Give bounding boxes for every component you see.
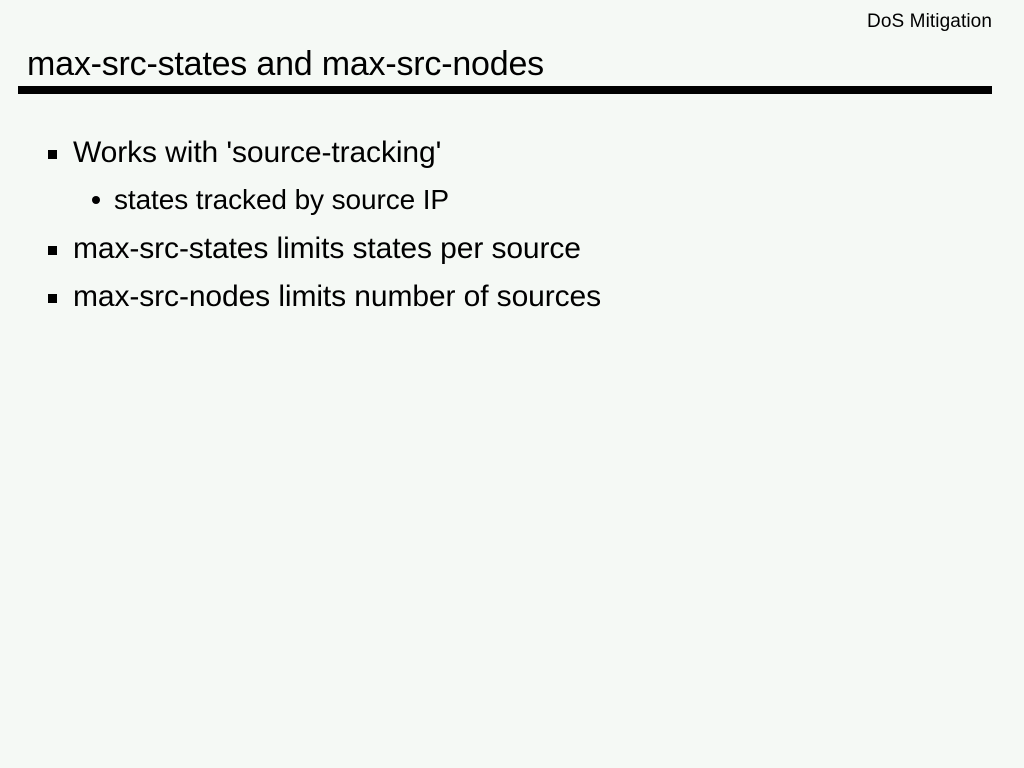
round-bullet-icon xyxy=(92,196,100,204)
bullet-item-label: Works with 'source-tracking' xyxy=(73,133,441,173)
bullet-item-label: max-src-nodes limits number of sources xyxy=(73,277,601,317)
bullet-item: states tracked by source IP xyxy=(0,181,1024,229)
slide-header-label: DoS Mitigation xyxy=(392,10,992,34)
square-bullet-icon xyxy=(48,294,57,303)
square-bullet-icon xyxy=(48,150,57,159)
title-divider-rule xyxy=(18,86,992,94)
bullet-item: max-src-nodes limits number of sources xyxy=(0,277,1024,325)
bullet-item-label: max-src-states limits states per source xyxy=(73,229,581,269)
square-bullet-icon xyxy=(48,246,57,255)
bullet-item: max-src-states limits states per source xyxy=(0,229,1024,277)
slide-title: max-src-states and max-src-nodes xyxy=(27,44,544,84)
presentation-slide: DoS Mitigation max-src-states and max-sr… xyxy=(0,0,1024,768)
slide-bullet-list: Works with 'source-tracking' states trac… xyxy=(0,133,1024,325)
bullet-item: Works with 'source-tracking' xyxy=(0,133,1024,181)
bullet-item-label: states tracked by source IP xyxy=(114,181,449,219)
